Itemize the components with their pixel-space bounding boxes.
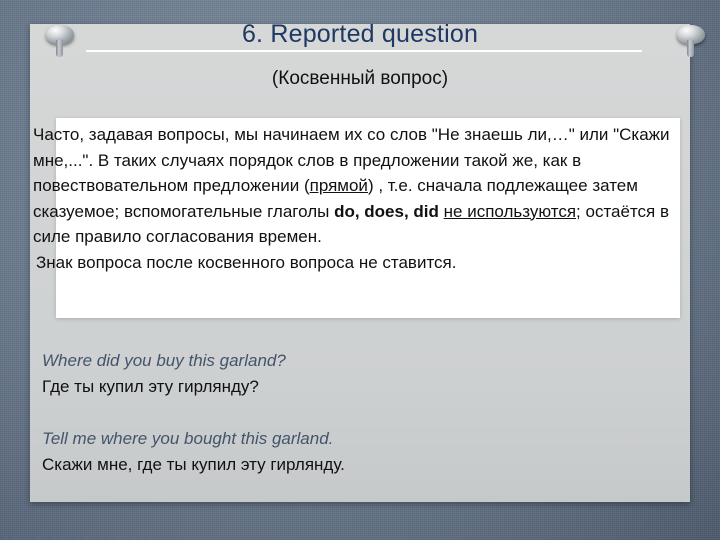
main-paragraph: Часто, задавая вопросы, мы начинаем их с… xyxy=(33,122,679,250)
page-subtitle: (Косвенный вопрос) xyxy=(30,68,690,90)
pushpin-stem xyxy=(687,40,694,57)
examples-gap xyxy=(42,400,682,426)
note-line: Знак вопроса после косвенного вопроса не… xyxy=(33,250,679,276)
slide: 6. Reported question (Косвенный вопрос) … xyxy=(0,0,720,540)
pushpin-stem xyxy=(56,40,63,57)
paragraph-underline-1: прямой xyxy=(310,176,368,195)
example-1-english: Where did you buy this garland? xyxy=(42,348,682,374)
example-2-english: Tell me where you bought this garland. xyxy=(42,426,682,452)
page-title: 6. Reported question xyxy=(30,20,690,49)
example-2-russian: Скажи мне, где ты купил эту гирлянду. xyxy=(42,452,682,478)
example-1-russian: Где ты купил эту гирлянду? xyxy=(42,374,682,400)
pushpin-left-icon xyxy=(45,25,75,59)
paragraph-bold-auxiliaries: do, does, did xyxy=(334,202,439,221)
examples-block: Where did you buy this garland? Где ты к… xyxy=(42,348,682,478)
paragraph-underline-2: не используются xyxy=(444,202,576,221)
body-text-block: Часто, задавая вопросы, мы начинаем их с… xyxy=(33,122,679,275)
pushpin-right-icon xyxy=(676,25,706,59)
title-divider xyxy=(86,50,642,52)
